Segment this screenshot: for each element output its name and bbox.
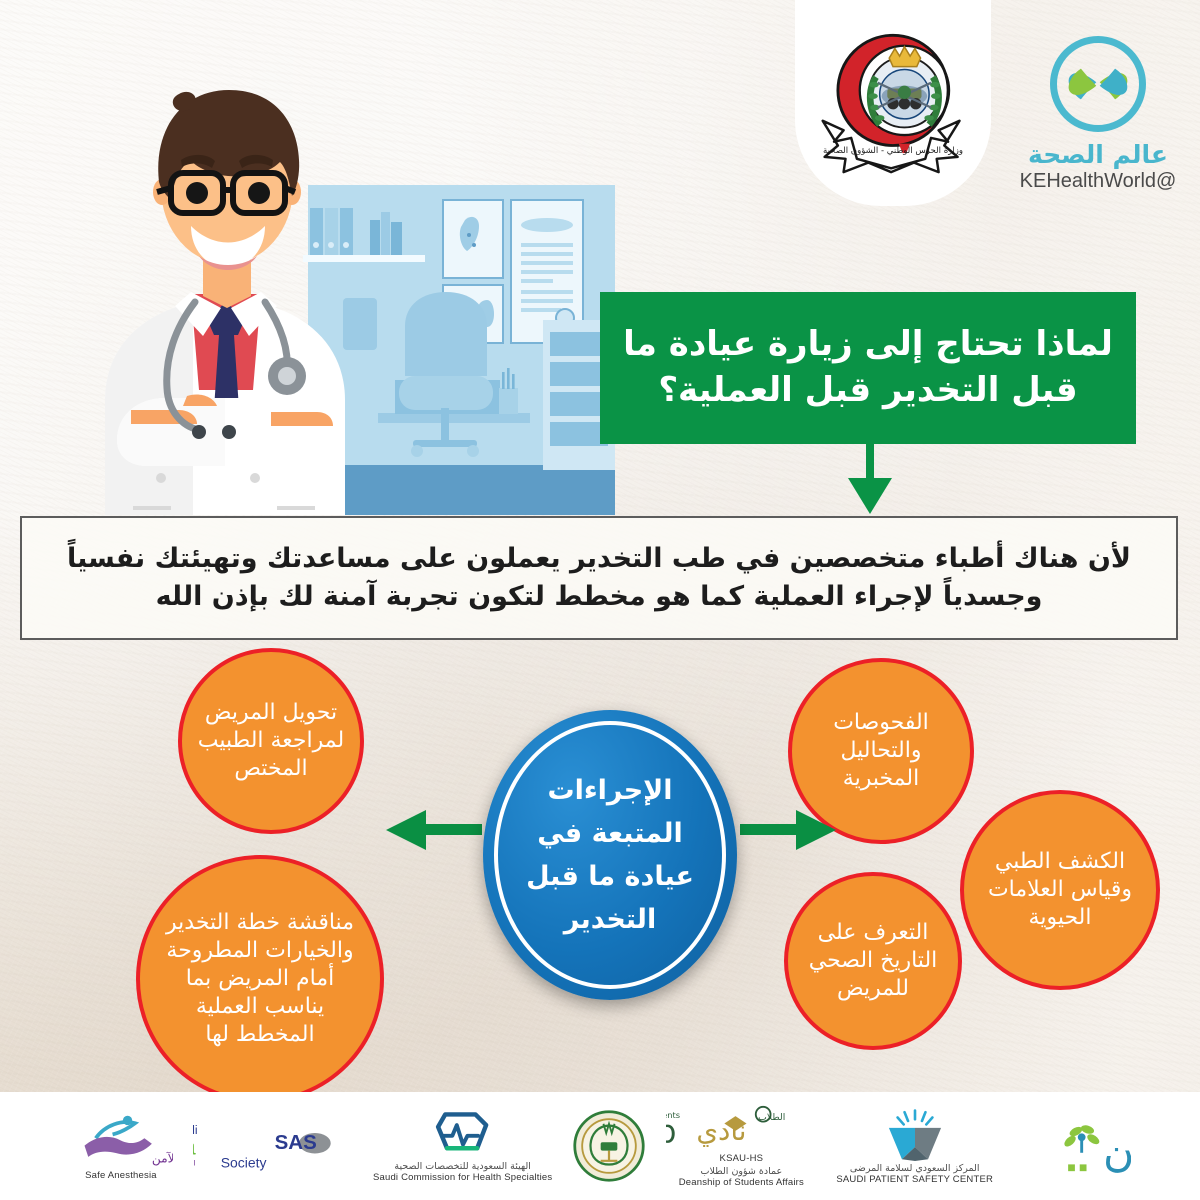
svg-text:وزارة الحرس الوطني - الشؤون ال: وزارة الحرس الوطني - الشؤون الصحية <box>823 146 963 156</box>
bubble-lab-tests-label: الفحوصات والتحاليل المخبرية <box>803 709 960 793</box>
svg-text:Students: Students <box>666 1109 680 1119</box>
diagram-center-node: الإجراءات المتبعة في عيادة ما قبل التخدي… <box>483 710 737 1000</box>
bubble-medical-history: التعرف على التاريخ الصحي للمريض <box>784 872 962 1050</box>
footer-logo-leen: لين <box>1013 1098 1131 1194</box>
footer-logo-scfhs-arabic: الهيئة السعودية للتخصصات الصحية <box>394 1161 530 1172</box>
svg-text:Anesthesia: Anesthesia <box>193 1133 196 1159</box>
svg-text:لين: لين <box>1103 1123 1131 1173</box>
bubble-physical-exam: الكشف الطبي وقياس العلامات الحيوية <box>960 790 1160 990</box>
doctor-in-clinic-illustration <box>95 40 615 515</box>
footer-logo-saudi-commission-for-health-specialties: الهيئة السعودية للتخصصات الصحية Saudi Co… <box>373 1098 552 1194</box>
footer-logo-ksau-hs-seal <box>572 1098 646 1194</box>
footer-logo-safe-anesthesia: التخدير الآمن Safe Anesthesia <box>69 1098 173 1194</box>
footer-logo-saudi-anesthesia-society: Saudi Anesthesia Society الجمعية السعودي… <box>193 1098 353 1194</box>
health-world-arabic-name: عالم الصحة <box>1016 140 1180 169</box>
svg-text:SAS: SAS <box>275 1131 317 1154</box>
footer-logo-saudi-patient-safety-center: المركز السعودي لسلامة المرضى SAUDI PATIE… <box>836 1098 993 1194</box>
footer-logo-bar: لين المركز السعودي لسلامة المرضى SAUDI P… <box>0 1092 1200 1200</box>
footer-logo-scfhs-english: Saudi Commission for Health Specialties <box>373 1172 552 1183</box>
down-arrow-icon <box>838 444 902 516</box>
header-banner: لماذا تحتاج إلى زيارة عيادة ما قبل التخد… <box>600 292 1136 444</box>
svg-text:الجمعية السعودية لطب التخدير: الجمعية السعودية لطب التخدير <box>193 1159 196 1168</box>
ministry-of-national-guard-health-affairs-logo: وزارة الحرس الوطني - الشؤون الصحية <box>817 22 969 174</box>
bubble-transfer-label: تحويل المريض لمراجعة الطبيب المختص <box>193 699 350 783</box>
page-title: لماذا تحتاج إلى زيارة عيادة ما قبل التخد… <box>621 322 1114 413</box>
bubble-transfer: تحويل المريض لمراجعة الطبيب المختص <box>178 648 364 834</box>
footer-logo-deanship-extra: KSAU-HS <box>720 1153 764 1164</box>
bubble-physical-exam-label: الكشف الطبي وقياس العلامات الحيوية <box>976 848 1145 932</box>
center-node-label: الإجراءات المتبعة في عيادة ما قبل التخدي… <box>506 769 714 942</box>
bubble-anesthesia-plan-label: مناقشة خطة التخدير والخيارات المطروحة أم… <box>154 909 365 1050</box>
bubble-anesthesia-plan: مناقشة خطة التخدير والخيارات المطروحة أم… <box>136 855 384 1103</box>
arrow-left-icon <box>386 808 482 852</box>
svg-text:التخدير الآمن: التخدير الآمن <box>152 1151 173 1166</box>
footer-logo-saudi-patient-safety-center-english: SAUDI PATIENT SAFETY CENTER <box>836 1174 993 1185</box>
footer-logo-deanship-of-students-affairs: club نادي Students الطلاب KSAU-HS عمادة … <box>666 1098 816 1194</box>
footer-logo-saudi-patient-safety-center-arabic: المركز السعودي لسلامة المرضى <box>850 1163 980 1174</box>
body-text: لأن هناك أطباء متخصصين في طب التخدير يعم… <box>51 540 1147 617</box>
footer-logo-deanship-english: Deanship of Students Affairs <box>679 1177 804 1188</box>
footer-logo-deanship-arabic: عمادة شؤون الطلاب <box>701 1166 783 1177</box>
svg-text:Society: Society <box>221 1154 267 1170</box>
body-text-box: لأن هناك أطباء متخصصين في طب التخدير يعم… <box>20 516 1178 640</box>
health-world-flower-icon <box>1050 36 1146 132</box>
ke-health-world-logo: عالم الصحة @KEHealthWorld <box>1016 36 1180 193</box>
arrow-right-icon <box>740 808 836 852</box>
ministry-logo-plate: وزارة الحرس الوطني - الشؤون الصحية <box>795 0 991 206</box>
footer-logo-safe-anesthesia-english: Safe Anesthesia <box>85 1170 157 1181</box>
bubble-medical-history-label: التعرف على التاريخ الصحي للمريض <box>798 919 948 1003</box>
health-world-handle: @KEHealthWorld <box>1016 170 1180 193</box>
